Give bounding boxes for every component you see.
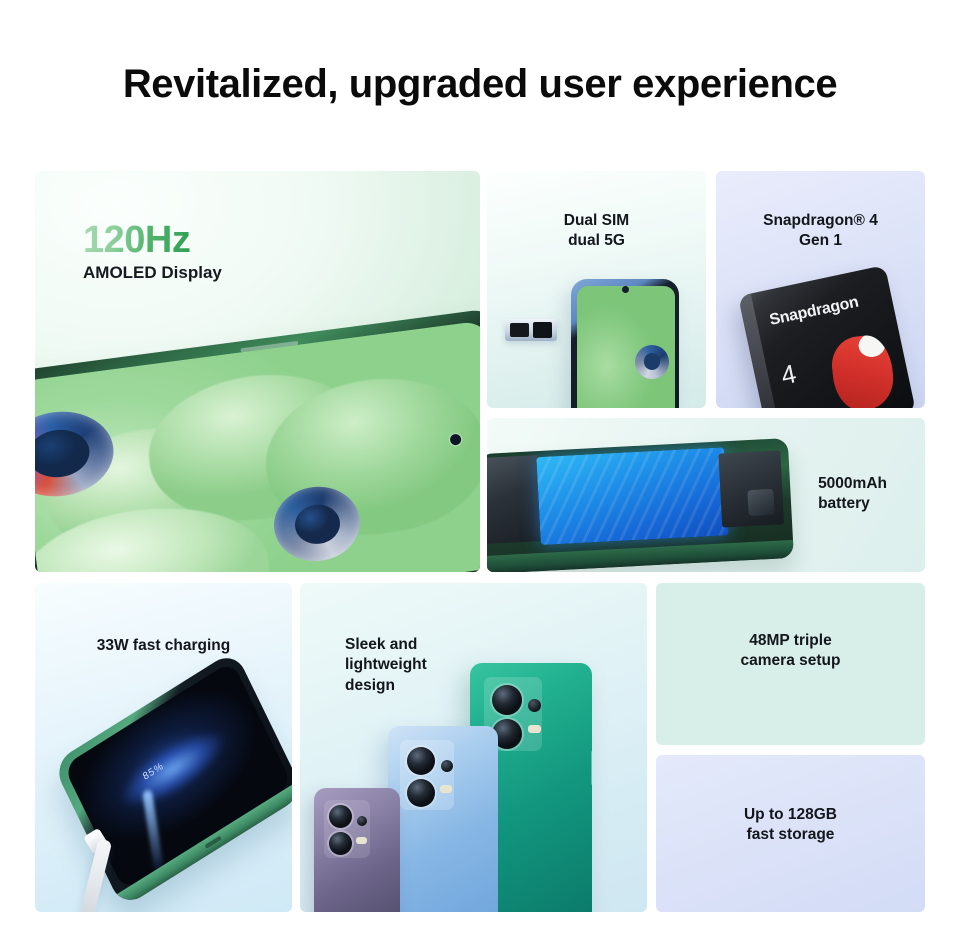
phone-internals-image xyxy=(487,438,794,572)
camera-lens-tertiary xyxy=(528,699,541,712)
battery-label: 5000mAh battery xyxy=(818,474,887,515)
sim-card-icon xyxy=(533,322,552,338)
feature-card-dual-sim[interactable]: Dual SIM dual 5G xyxy=(487,171,706,408)
phone-image-display xyxy=(35,308,480,572)
dual-sim-label: Dual SIM dual 5G xyxy=(487,211,706,252)
camera-lens-tertiary xyxy=(357,816,367,826)
phone-components xyxy=(487,455,543,544)
phone-screen xyxy=(35,320,480,572)
phone-frame-rail xyxy=(487,540,794,572)
camera-flash-icon xyxy=(356,837,367,844)
camera-flash-icon xyxy=(440,785,452,793)
wallpaper-orb xyxy=(635,345,669,379)
camera-lens-secondary xyxy=(407,779,435,807)
feature-card-camera[interactable]: 48MP triple camera setup xyxy=(656,583,925,745)
chipset-label: Snapdragon® 4 Gen 1 xyxy=(716,211,925,252)
charging-animation-graphic xyxy=(97,703,249,836)
front-camera-icon xyxy=(622,286,629,293)
phone-image-purple xyxy=(314,788,400,912)
display-headline: 120Hz xyxy=(83,219,190,262)
page-title: Revitalized, upgraded user experience xyxy=(0,62,960,107)
snapdragon-logo-icon xyxy=(829,333,896,408)
battery-cell-image xyxy=(536,447,728,545)
camera-flash-icon xyxy=(528,725,541,733)
speaker-grille-icon xyxy=(205,835,222,848)
chip-brand-text: Snapdragon xyxy=(768,294,860,330)
camera-lens-main xyxy=(329,805,352,828)
chip-gen-number: 4 xyxy=(779,360,799,390)
phone-side-button xyxy=(591,751,592,785)
phone-screen xyxy=(577,286,675,408)
phone-module xyxy=(718,450,784,527)
phone-chip-square xyxy=(747,489,774,516)
fast-charging-label: 33W fast charging xyxy=(35,636,292,656)
camera-lens-main xyxy=(407,747,435,775)
camera-label: 48MP triple camera setup xyxy=(656,631,925,672)
storage-label: Up to 128GB fast storage xyxy=(656,805,925,846)
feature-card-design[interactable]: Sleek and lightweight design xyxy=(300,583,647,912)
camera-lens-tertiary xyxy=(441,760,453,772)
feature-card-storage[interactable]: Up to 128GB fast storage xyxy=(656,755,925,912)
sim-tray-image xyxy=(505,319,557,341)
camera-lens-main xyxy=(492,685,522,715)
phone-image-sim xyxy=(571,279,679,408)
feature-card-fast-charging[interactable]: 33W fast charging 85% xyxy=(35,583,292,912)
feature-card-chipset[interactable]: Snapdragon® 4 Gen 1 Snapdragon 4 xyxy=(716,171,925,408)
phone-image-charging: 85% xyxy=(52,650,292,909)
sim-card-icon xyxy=(510,323,529,337)
display-subhead: AMOLED Display xyxy=(83,263,222,283)
phone-image-blue xyxy=(388,726,498,912)
feature-card-battery[interactable]: 5000mAh battery xyxy=(487,418,925,572)
feature-card-display[interactable]: 120Hz AMOLED Display xyxy=(35,171,480,572)
design-label: Sleek and lightweight design xyxy=(345,635,427,696)
product-feature-page: Revitalized, upgraded user experience 12… xyxy=(0,0,960,949)
camera-lens-secondary xyxy=(329,832,352,855)
snapdragon-chip-image: Snapdragon 4 xyxy=(738,265,916,408)
